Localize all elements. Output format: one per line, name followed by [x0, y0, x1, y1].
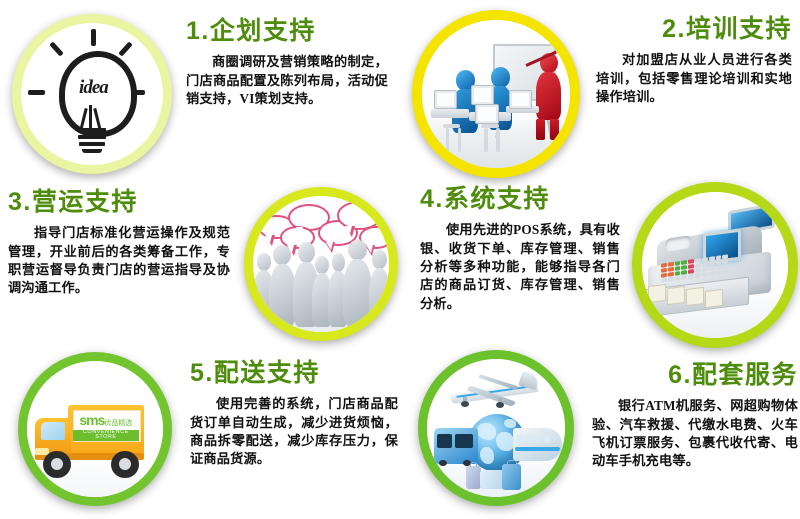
section-planning-support: idea 1.企划支持 商圈调研及营销策略的制定，门店商品配置及陈列布局，活动促…	[12, 14, 388, 180]
training-support-body: 对加盟店从业人员进行各类培训，包括零售理论培训和实地操作培训。	[596, 51, 792, 106]
operations-support-image	[253, 196, 389, 332]
delivery-truck-icon: sms优品精选 CONVENIENCE STORE	[27, 361, 163, 497]
distribution-support-body: 使用完善的系统，门店商品配货订单自动生成，减少进货烦恼，商品拆零配送，减少库存压…	[190, 395, 398, 469]
teacher-figure	[534, 53, 564, 139]
value-added-services-body: 银行ATM机服务、网超购物体验、汽车救援、代缴水电费、火车飞机订票服务、包裹代收…	[592, 397, 798, 471]
operations-support-body: 指导门店标准化营运操作及规范管理，开业前后的各类筹备工作，专职营运督导负责门店的…	[8, 224, 230, 298]
distribution-support-heading: 5.配送支持	[190, 360, 398, 386]
training-support-heading: 2.培训支持	[596, 16, 792, 42]
system-support-body: 使用先进的POS系统，具有收银、收货下单、库存管理、销售分析等多种功能，能够指导…	[420, 221, 620, 313]
value-added-services-text: 6.配套服务 银行ATM机服务、网超购物体验、汽车救援、代缴水电费、火车飞机订票…	[592, 350, 798, 471]
truck-logo: sms优品精选 CONVENIENCE STORE	[73, 413, 138, 441]
section-training-support: 2.培训支持 对加盟店从业人员进行各类培训，包括零售理论培训和实地操作培训。	[412, 10, 792, 180]
truck-wheel	[111, 451, 138, 478]
lightbulb-idea-icon: idea	[21, 23, 163, 165]
system-support-text: 4.系统支持 使用先进的POS系统，具有收银、收货下单、库存管理、销售分析等多种…	[420, 182, 620, 313]
airplane-icon	[441, 370, 551, 417]
planning-support-image: idea	[21, 23, 163, 165]
section-operations-support: 3.营运支持 指导门店标准化营运操作及规范管理，开业前后的各类筹备工作，专职营运…	[8, 185, 398, 350]
operations-support-text: 3.营运支持 指导门店标准化营运操作及规范管理，开业前后的各类筹备工作，专职营运…	[8, 185, 230, 298]
luggage-icon	[466, 458, 529, 491]
system-support-image	[642, 192, 788, 338]
planning-support-text: 1.企划支持 商圈调研及营销策略的制定，门店商品配置及陈列布局，活动促销支持，V…	[186, 14, 388, 108]
cash-bill	[648, 284, 666, 303]
train-icon	[513, 428, 563, 461]
cash-bill	[686, 287, 704, 306]
training-support-medallion	[412, 10, 580, 178]
truck-logo-en: CONVENIENCE STORE	[73, 430, 138, 441]
truck-wheel	[43, 451, 70, 478]
distribution-support-text: 5.配送支持 使用完善的系统，门店商品配货订单自动生成，减少进货烦恼，商品拆零配…	[190, 352, 398, 469]
value-added-services-medallion	[418, 350, 574, 506]
truck-logo-cn: 优品精选	[104, 420, 132, 427]
truck-logo-mark: sms	[79, 412, 104, 428]
crowd-speech-bubbles-icon	[253, 196, 389, 332]
planning-support-medallion: idea	[12, 14, 172, 174]
distribution-support-image: sms优品精选 CONVENIENCE STORE	[27, 361, 163, 497]
section-distribution-support: sms优品精选 CONVENIENCE STORE 5.配送支持 使用完善的系统…	[18, 352, 398, 512]
cash-bill	[667, 286, 685, 305]
cash-bill	[705, 289, 723, 308]
system-support-medallion	[632, 182, 798, 348]
value-added-services-heading: 6.配套服务	[592, 362, 798, 388]
operations-support-medallion	[244, 187, 398, 341]
classroom-training-icon	[422, 20, 570, 168]
pos-cash-register-icon	[642, 192, 788, 338]
training-support-text: 2.培训支持 对加盟店从业人员进行各类培训，包括零售理论培训和实地操作培训。	[596, 10, 792, 106]
idea-script-label: idea	[65, 77, 122, 99]
section-value-added-services: 6.配套服务 银行ATM机服务、网超购物体验、汽车救援、代缴水电费、火车飞机订票…	[418, 350, 798, 512]
section-system-support: 4.系统支持 使用先进的POS系统，具有收银、收货下单、库存管理、销售分析等多种…	[420, 182, 798, 354]
travel-services-icon	[427, 359, 565, 497]
planning-support-body: 商圈调研及营销策略的制定，门店商品配置及陈列布局，活动促销支持，VI策划支持。	[186, 53, 388, 108]
distribution-support-medallion: sms优品精选 CONVENIENCE STORE	[18, 352, 172, 506]
franchise-support-poster: idea 1.企划支持 商圈调研及营销策略的制定，门店商品配置及陈列布局，活动促…	[0, 0, 800, 519]
training-support-image	[422, 20, 570, 168]
value-added-services-image	[427, 359, 565, 497]
system-support-heading: 4.系统支持	[420, 186, 620, 212]
planning-support-heading: 1.企划支持	[186, 18, 388, 44]
operations-support-heading: 3.营运支持	[8, 189, 230, 215]
